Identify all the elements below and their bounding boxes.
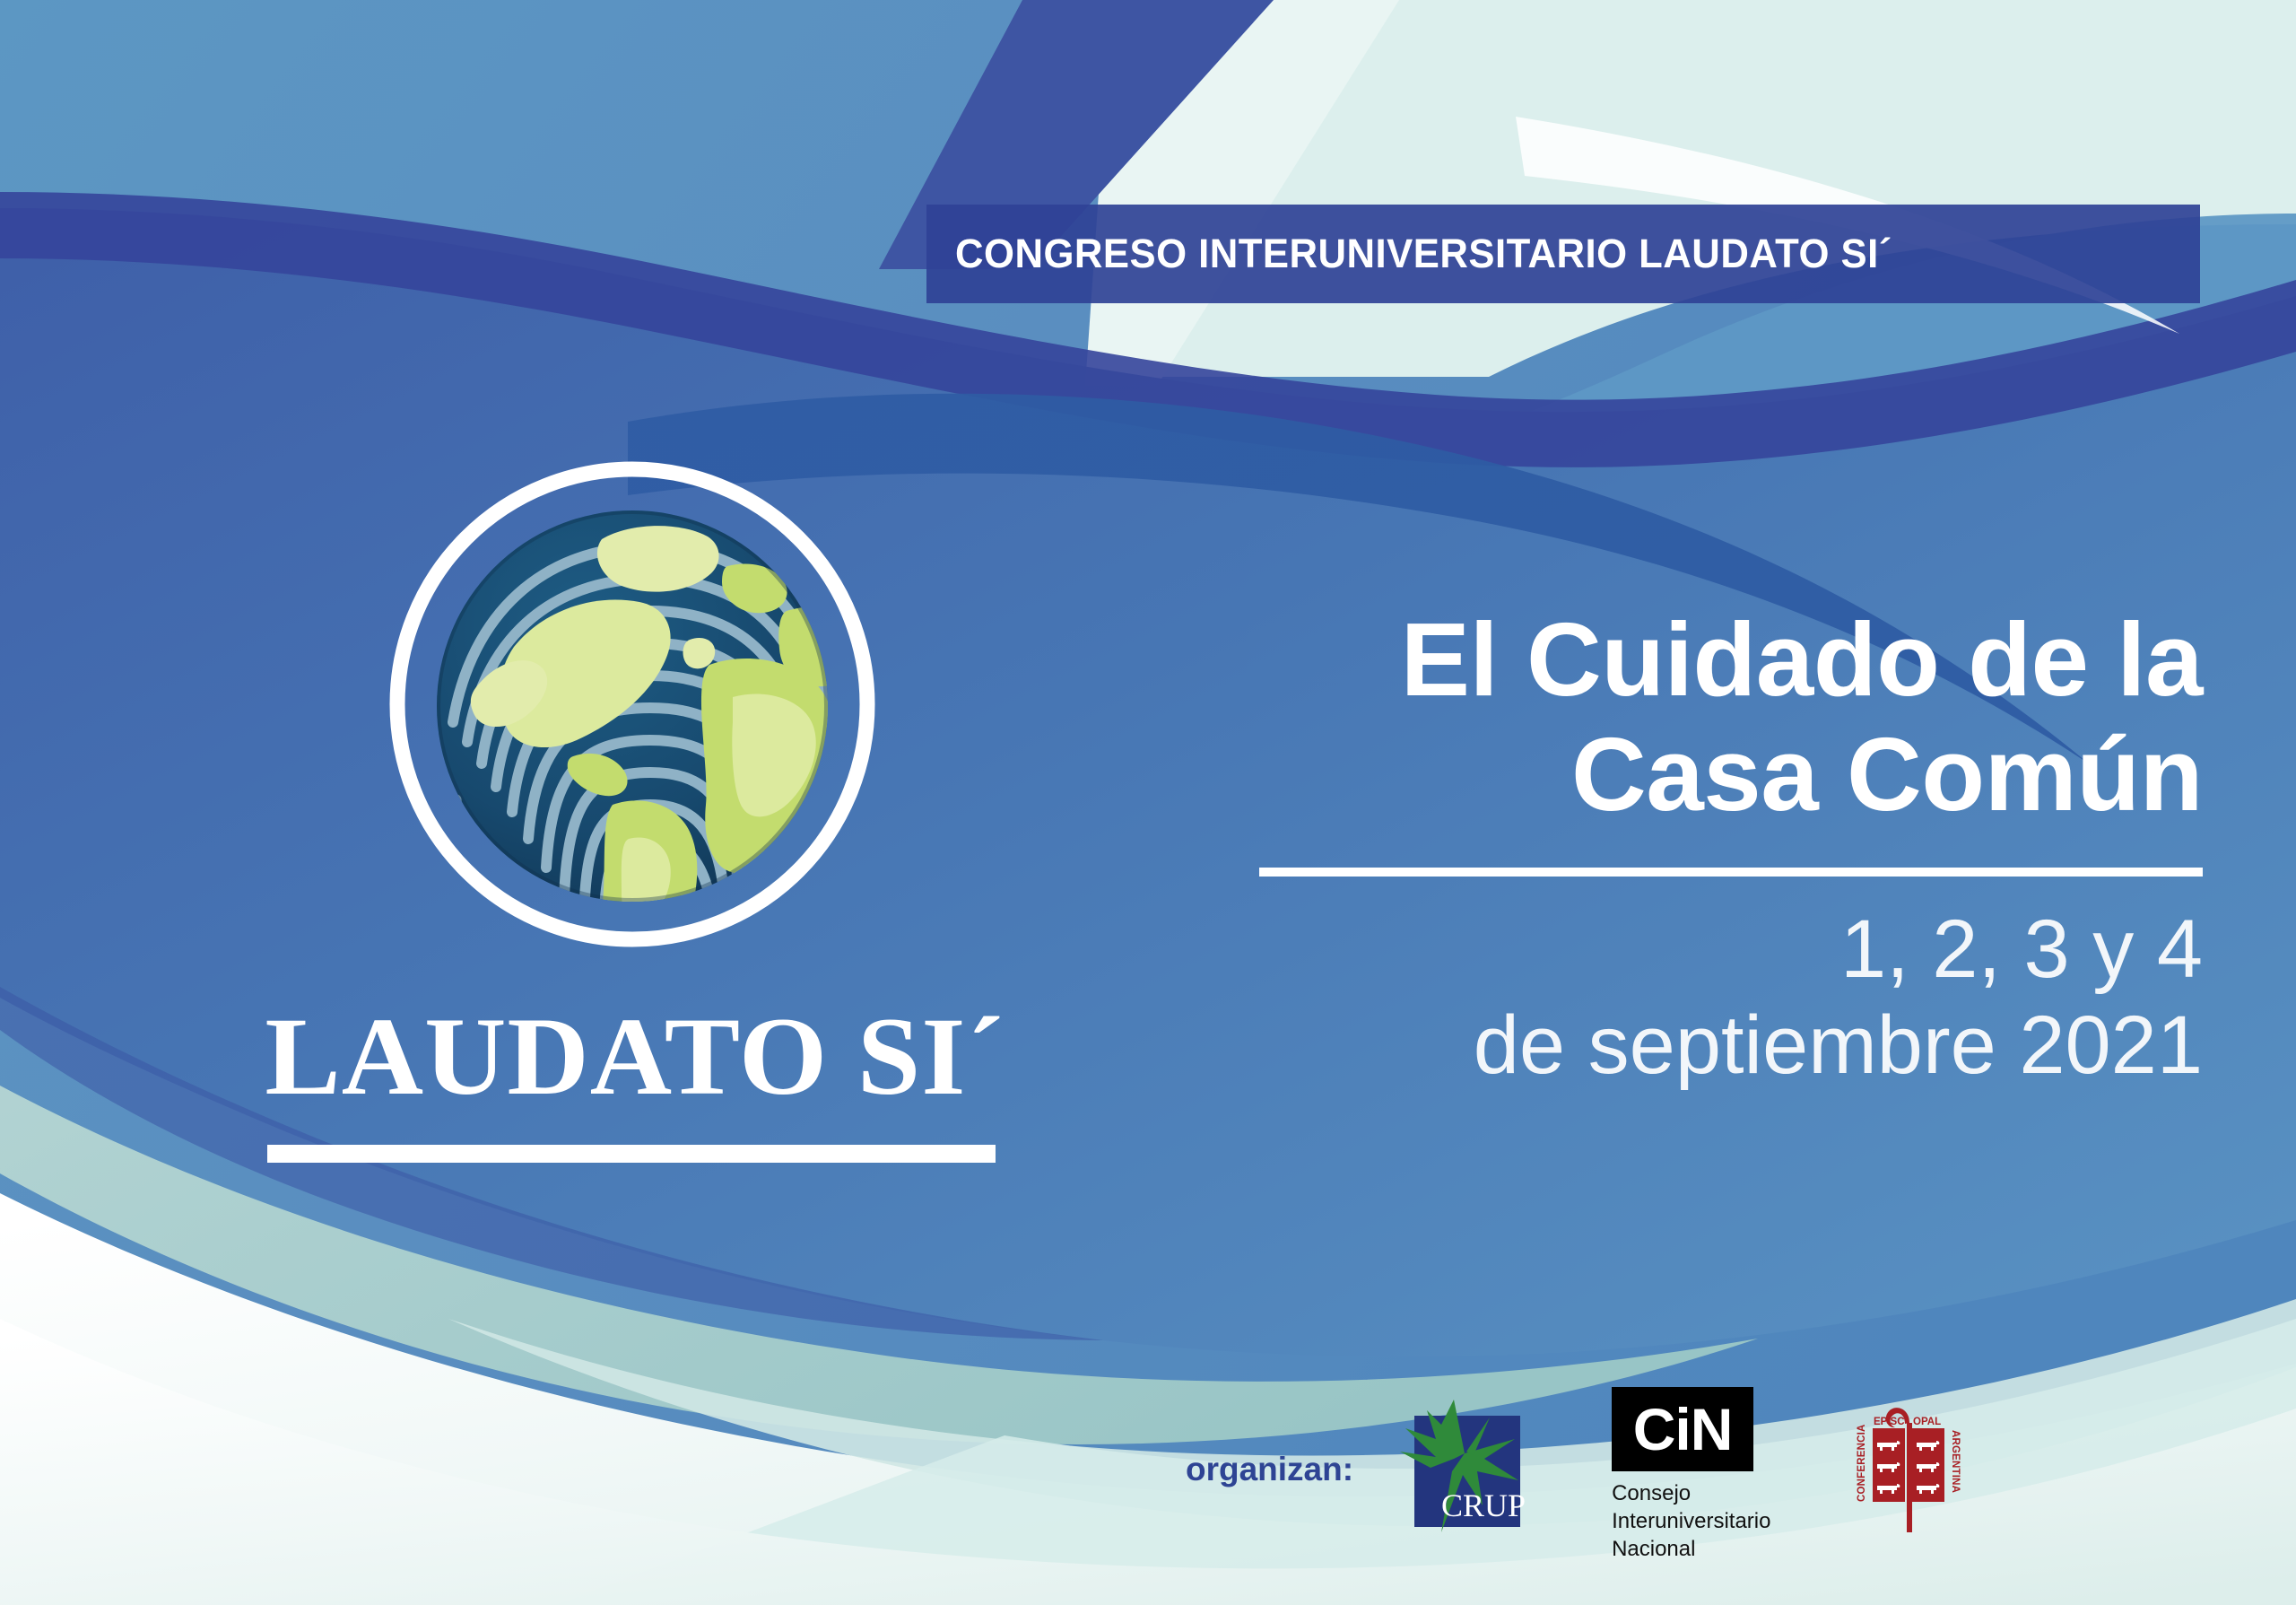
cin-caption-line-2: Interuniversitario [1612, 1507, 1770, 1535]
date-line-1: 1, 2, 3 y 4 [1058, 902, 2203, 998]
title-divider-rule [1259, 868, 2203, 877]
header-ribbon: CONGRESO INTERUNIVERSITARIO LAUDATO SI´ [926, 205, 2200, 303]
crup-logo: CRUP [1400, 1398, 1535, 1541]
date-block: 1, 2, 3 y 4 de septiembre 2021 [1058, 902, 2203, 1093]
conferencia-episcopal-argentina-logo: CONFERENCIA EPISC OPAL ARGENTINA [1848, 1396, 1970, 1544]
organizers-label: organizan: [1186, 1451, 1353, 1488]
svg-text:CRUP: CRUP [1441, 1487, 1526, 1523]
cin-logo: CiN Consejo Interuniversitario Nacional [1612, 1387, 1770, 1564]
globe-fingerprint-icon [381, 453, 883, 955]
laudato-si-wordmark: LAUDATO SI´ [258, 1001, 1012, 1163]
cin-caption: Consejo Interuniversitario Nacional [1612, 1479, 1770, 1564]
laudato-si-wordmark-text: LAUDATO SI´ [251, 1001, 1020, 1112]
header-ribbon-label: CONGRESO INTERUNIVERSITARIO LAUDATO SI´ [955, 231, 1892, 277]
cin-mark-icon: CiN [1612, 1387, 1753, 1471]
title-line-2: Casa Común [1058, 718, 2203, 833]
svg-text:ARGENTINA: ARGENTINA [1950, 1430, 1961, 1493]
cin-caption-line-3: Nacional [1612, 1535, 1770, 1563]
cin-mark-text: CiN [1633, 1400, 1733, 1459]
crup-mark-icon: CRUP [1400, 1398, 1535, 1541]
svg-text:CONFERENCIA: CONFERENCIA [1857, 1424, 1867, 1502]
title-line-1: El Cuidado de la [1058, 603, 2203, 718]
svg-text:OPAL: OPAL [1913, 1417, 1941, 1427]
poster-canvas: CONGRESO INTERUNIVERSITARIO LAUDATO SI´ [0, 0, 2296, 1605]
organizers-row: organizan: CRUP CiN Co [1186, 1371, 2145, 1568]
cea-crozier-icon: CONFERENCIA EPISC OPAL ARGENTINA [1848, 1396, 1970, 1544]
title-block: El Cuidado de la Casa Común 1, 2, 3 y 4 … [1058, 603, 2203, 1094]
wordmark-underline-rule [267, 1145, 996, 1163]
date-line-2: de septiembre 2021 [1058, 998, 2203, 1094]
cin-caption-line-1: Consejo [1612, 1479, 1770, 1507]
svg-text:EPISC: EPISC [1874, 1417, 1905, 1427]
